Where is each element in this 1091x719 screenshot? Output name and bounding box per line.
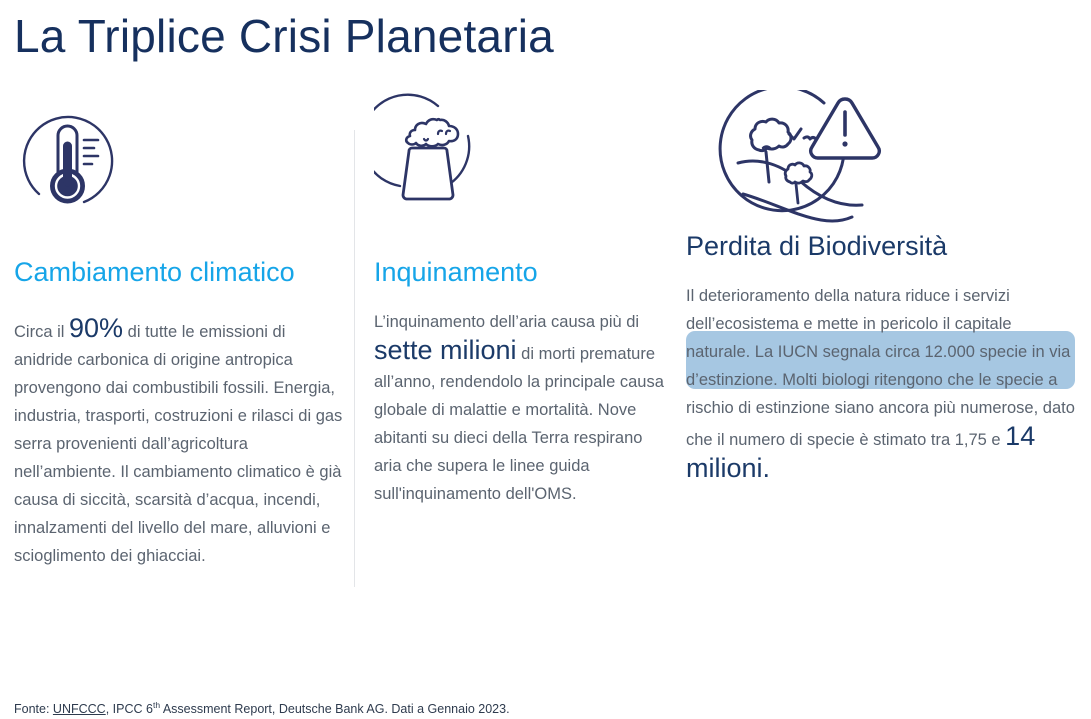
body-lead: Circa il [14,323,69,341]
column-climate-change: Cambiamento climatico Circa il 90% di tu… [14,90,344,570]
column-divider [354,130,355,587]
smokestack-circle-icon [374,90,664,220]
column-body-climate: Circa il 90% di tutte le emissioni di an… [14,314,344,570]
footnote-ordinal-suffix: th [153,700,160,710]
landscape-warning-circle-icon [718,90,1078,220]
body-rest: di morti premature all’anno, rendendolo … [374,345,664,503]
thermometer-circle-icon [14,90,344,220]
unfccc-link[interactable]: UNFCCC [53,702,106,716]
source-footnote: Fonte: UNFCCC, IPCC 6th Assessment Repor… [14,697,510,717]
body-rest: di tutte le emissioni di anidride carbon… [14,323,342,565]
column-biodiversity: Perdita di Biodiversità Il deteriorament… [686,90,1078,486]
page-title: La Triplice Crisi Planetaria [14,8,554,64]
body-highlight-value: sette milioni [374,335,517,365]
footnote-prefix: Fonte: [14,702,53,716]
column-heading-pollution: Inquinamento [374,256,664,288]
column-body-pollution: L’inquinamento dell’aria causa più di se… [374,308,664,508]
footnote-middle: , IPCC 6 [106,702,153,716]
column-pollution: Inquinamento L’inquinamento dell’aria ca… [374,90,664,508]
column-heading-climate: Cambiamento climatico [14,256,344,288]
body-highlight-value: 90% [69,313,123,343]
column-body-biodiversity: Il deterioramento della natura riduce i … [686,282,1078,486]
footnote-suffix: Assessment Report, Deutsche Bank AG. Dat… [160,702,510,716]
body-lead: L’inquinamento dell’aria causa più di [374,313,639,331]
